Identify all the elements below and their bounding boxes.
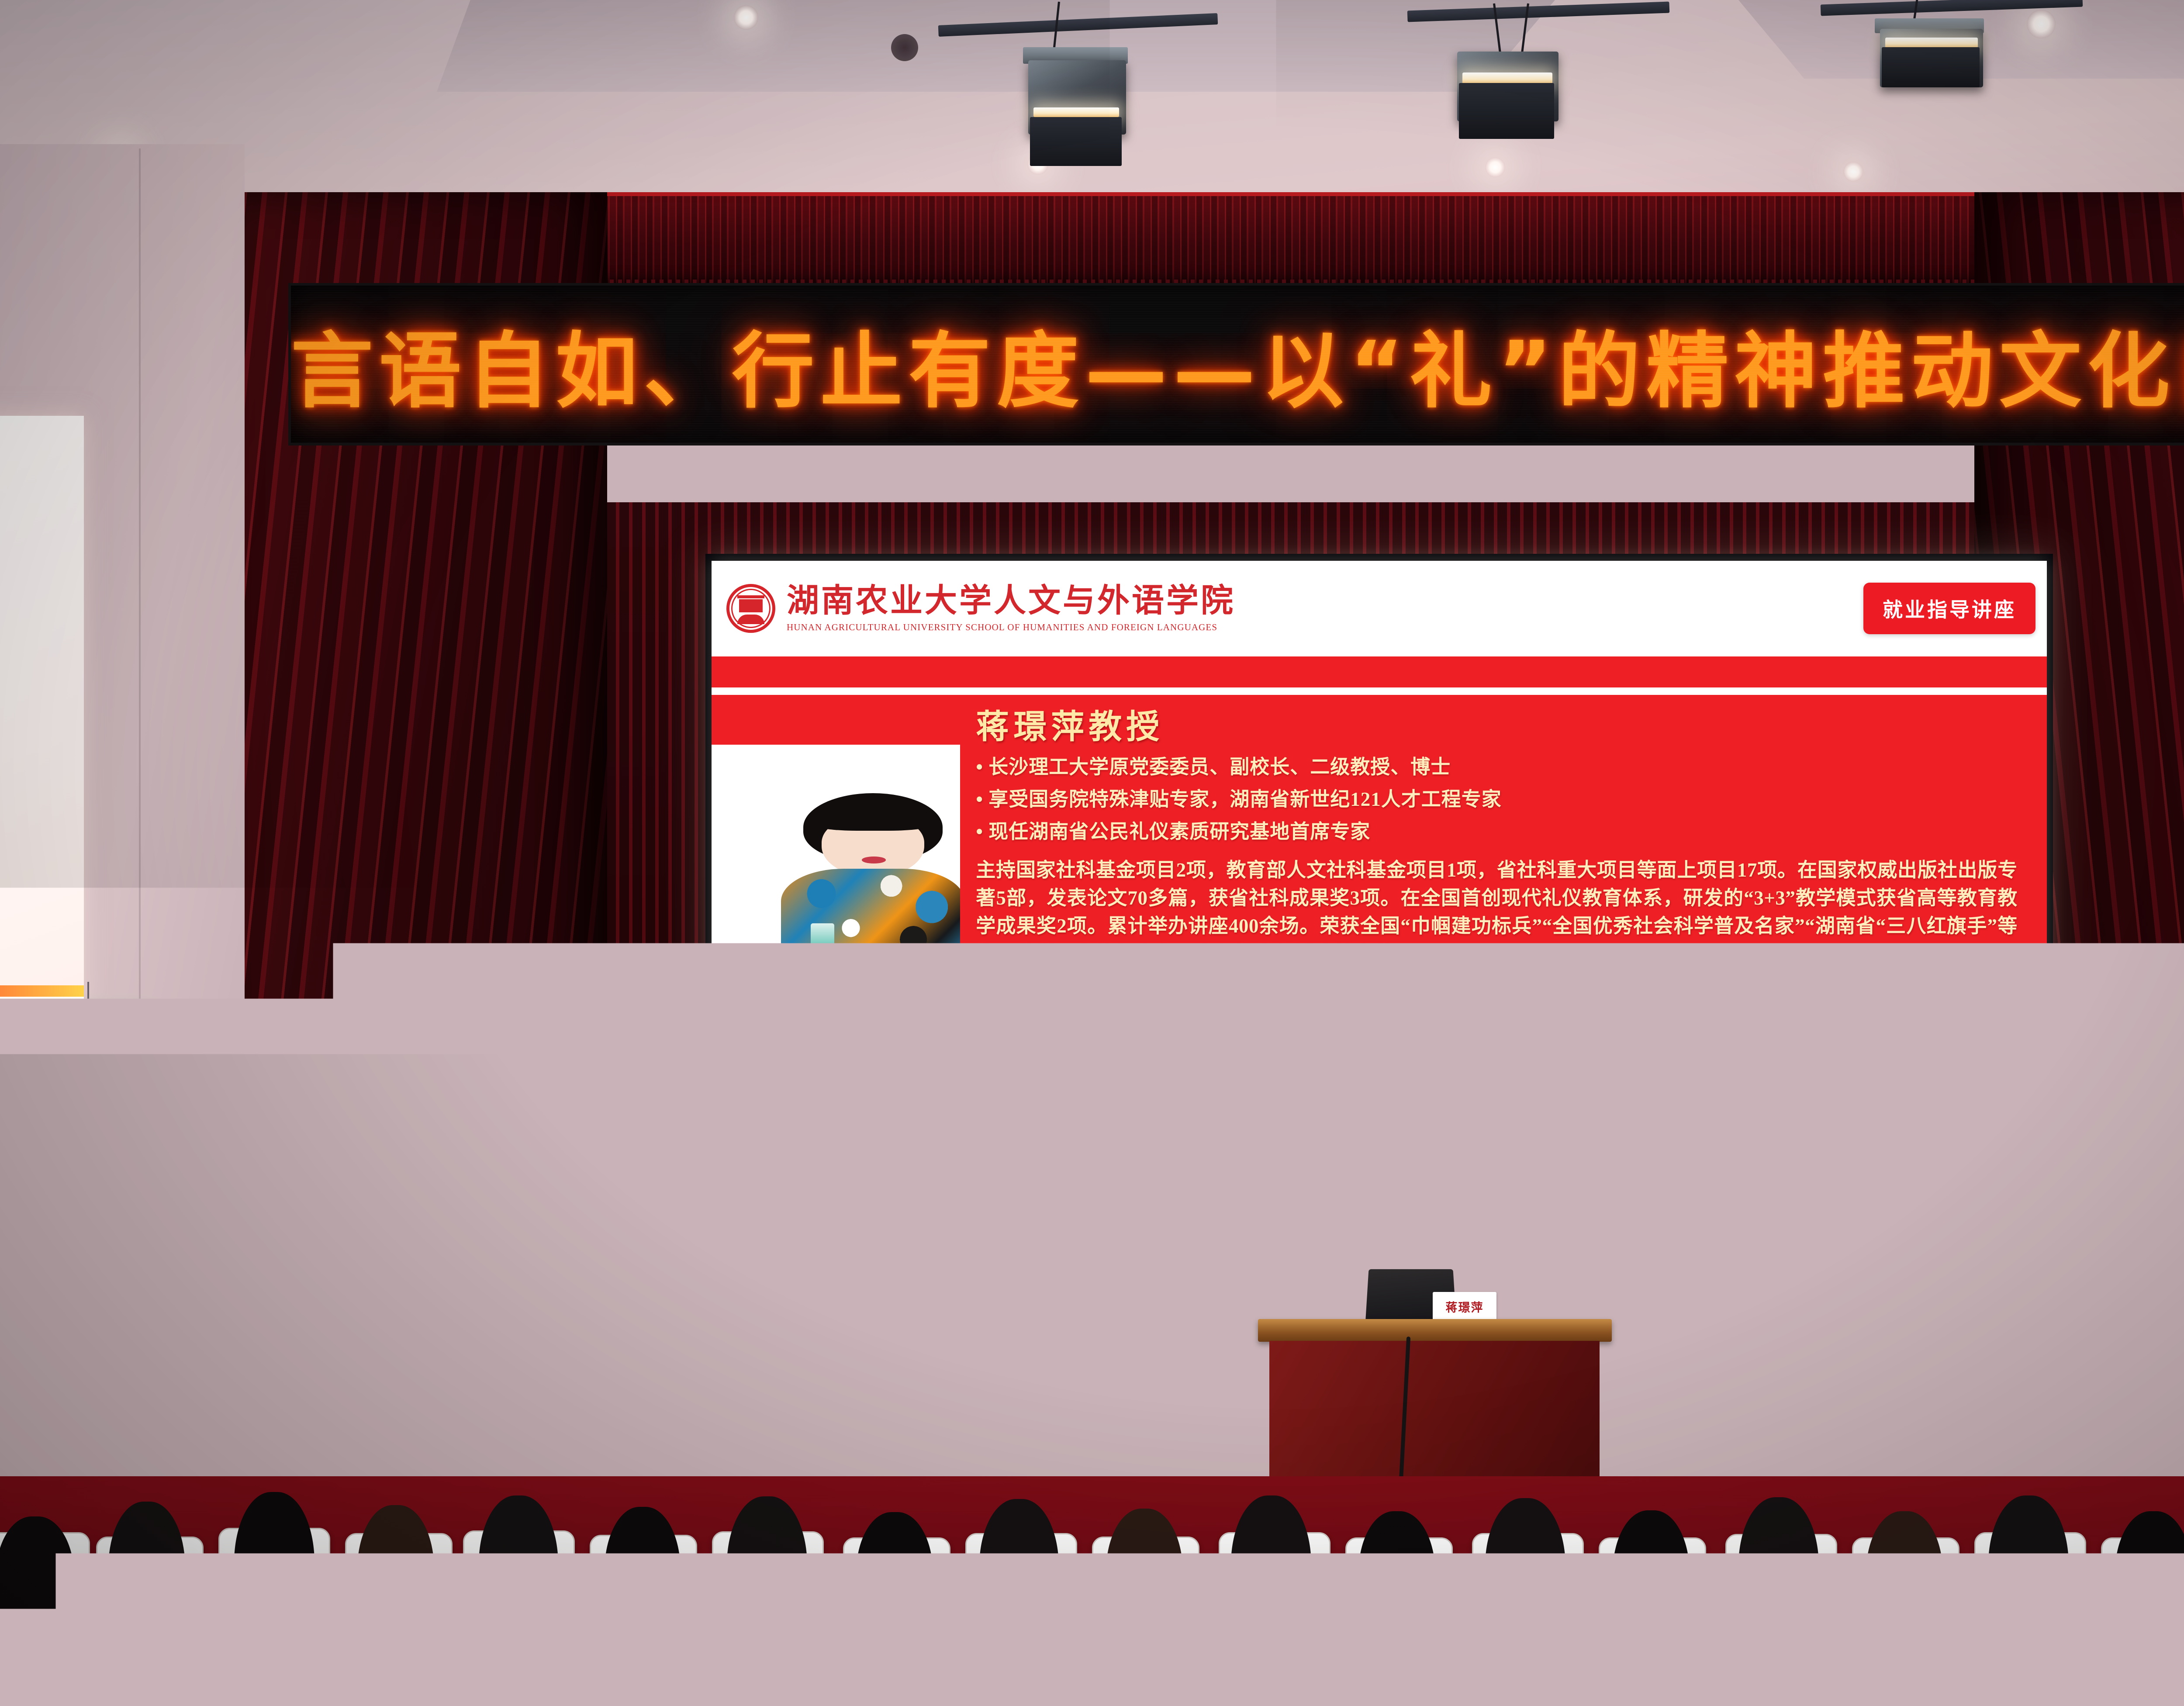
slide-rule-white-top [712,687,2047,695]
audience-head [234,1492,314,1646]
university-emblem-icon [726,584,775,633]
audience-head [1358,1511,1435,1647]
slide-bullet: 长沙理工大学原党委委员、副校长、二级教授、博士 [976,755,2017,779]
stage-lamp-3 [1849,0,2032,131]
slide-body: 蒋璟萍教授 长沙理工大学原党委委员、副校长、二级教授、博士 享受国务院特殊津贴专… [712,695,2047,1095]
audience-head [1988,1495,2069,1647]
audience-tablet [852,1575,896,1606]
lectern-name-cn: 湖南农业大学 [234,1241,388,1261]
ceiling-downlight-6 [1485,157,1505,177]
slide-bullet: 享受国务院特殊津贴专家，湖南省新世纪121人才工程专家 [976,787,2017,812]
campus-label-top: 湖南农业大学 [1326,1142,1433,1164]
lectern-nameplate: 湖南农业大学 HUNAN AGRICULTURAL UNIVERSITY [189,1232,433,1281]
audience-tablet [515,1588,560,1619]
slide-header: 湖南农业大学人文与外语学院 HUNAN AGRICULTURAL UNIVERS… [712,561,2047,656]
slide-rule-red-bottom [712,1102,2047,1133]
audience-head [108,1502,185,1646]
lectern-name-en: HUNAN AGRICULTURAL UNIVERSITY [228,1264,394,1271]
exit-sign-rod [87,982,89,1013]
audience-head [0,1516,74,1647]
speaker-portrait [712,745,960,964]
name-card: 蒋璟萍 [1433,1292,1496,1321]
slide-paragraph: 主持国家社科基金项目2项，教育部人文社科基金项目1项，省社科重大项目等面上项目1… [976,856,2017,968]
eyeglasses-icon [224,1162,285,1179]
audience-head [979,1499,1059,1646]
portrait-figure [781,793,960,965]
ceiling-downlight-1 [734,5,758,30]
audience-head [1231,1495,1311,1647]
exit-sign-label-cn: 安全出口 [42,1025,90,1041]
slide-header-badge: 就业指导讲座 [1863,583,2035,634]
slide-bullet: 现任湖南省公民礼仪素质研究基地首席专家 [976,820,2017,844]
slide-header-title-cn: 湖南农业大学人文与外语学院 [787,584,1855,618]
slide-header-title-en: HUNAN AGRICULTURAL UNIVERSITY SCHOOL OF … [787,622,1855,633]
audience-tablet [2167,1580,2184,1611]
slide-rule-red-top [712,656,2047,687]
led-banner: 言语自如、行止有度——以“礼”的精神推动文化自洽 [288,283,2184,445]
stage-lamp-1 [992,22,1175,166]
projection-screen: 湖南农业大学人文与外语学院 HUNAN AGRICULTURAL UNIVERS… [705,554,2053,1292]
ceiling-downlight-7 [1843,162,1863,182]
name-card-text: 蒋璟萍 [1446,1298,1484,1315]
led-banner-text: 言语自如、行止有度——以“礼”的精神推动文化自洽 [291,305,2184,424]
audience-seating [0,1476,2184,1706]
audience-head [605,1507,681,1646]
audience-head [1106,1509,1183,1647]
audience-head [2115,1511,2184,1647]
slide-rule-white-bottom [712,1095,2047,1102]
exit-sign: 安全出口 EXIT [38,1012,149,1053]
lectern: 湖南农业大学 HUNAN AGRICULTURAL UNIVERSITY [189,1232,433,1511]
stage-lamp-2 [1424,8,1607,152]
audience-head [1485,1498,1565,1647]
university-seal-icon [275,1321,347,1393]
table-top [1258,1319,1612,1342]
exit-sign-label-en: EXIT [118,1026,145,1039]
audience-head [1613,1510,1690,1647]
audience-head [1738,1497,1819,1647]
audience-head [479,1495,558,1646]
audience-head [357,1505,434,1646]
ceiling-vent-hole [891,34,918,61]
bouquet-flowers [1773,1367,1913,1454]
side-wall-poster: 以立德树人为根本 [0,416,84,1004]
presentation-slide: 湖南农业大学人文与外语学院 HUNAN AGRICULTURAL UNIVERS… [712,561,2047,1285]
auditorium-scene: 言语自如、行止有度——以“礼”的精神推动文化自洽 以立德树人为根本 安全出口 E… [0,0,2184,1706]
slide-speaker-title: 蒋璟萍教授 [976,711,2017,744]
slide-header-text: 湖南农业大学人文与外语学院 HUNAN AGRICULTURAL UNIVERS… [787,584,1855,633]
side-poster-text: 以立德树人为根本 [0,439,1,781]
audience-head [1866,1511,1943,1647]
running-person-icon [94,1022,114,1043]
slide-body-text: 蒋璟萍教授 长沙理工大学原党委委员、副校长、二级教授、博士 享受国务院特殊津贴专… [976,711,2017,1082]
audience-head [727,1496,807,1647]
watermark-line-1: 激活 Windows [1819,1172,1967,1195]
